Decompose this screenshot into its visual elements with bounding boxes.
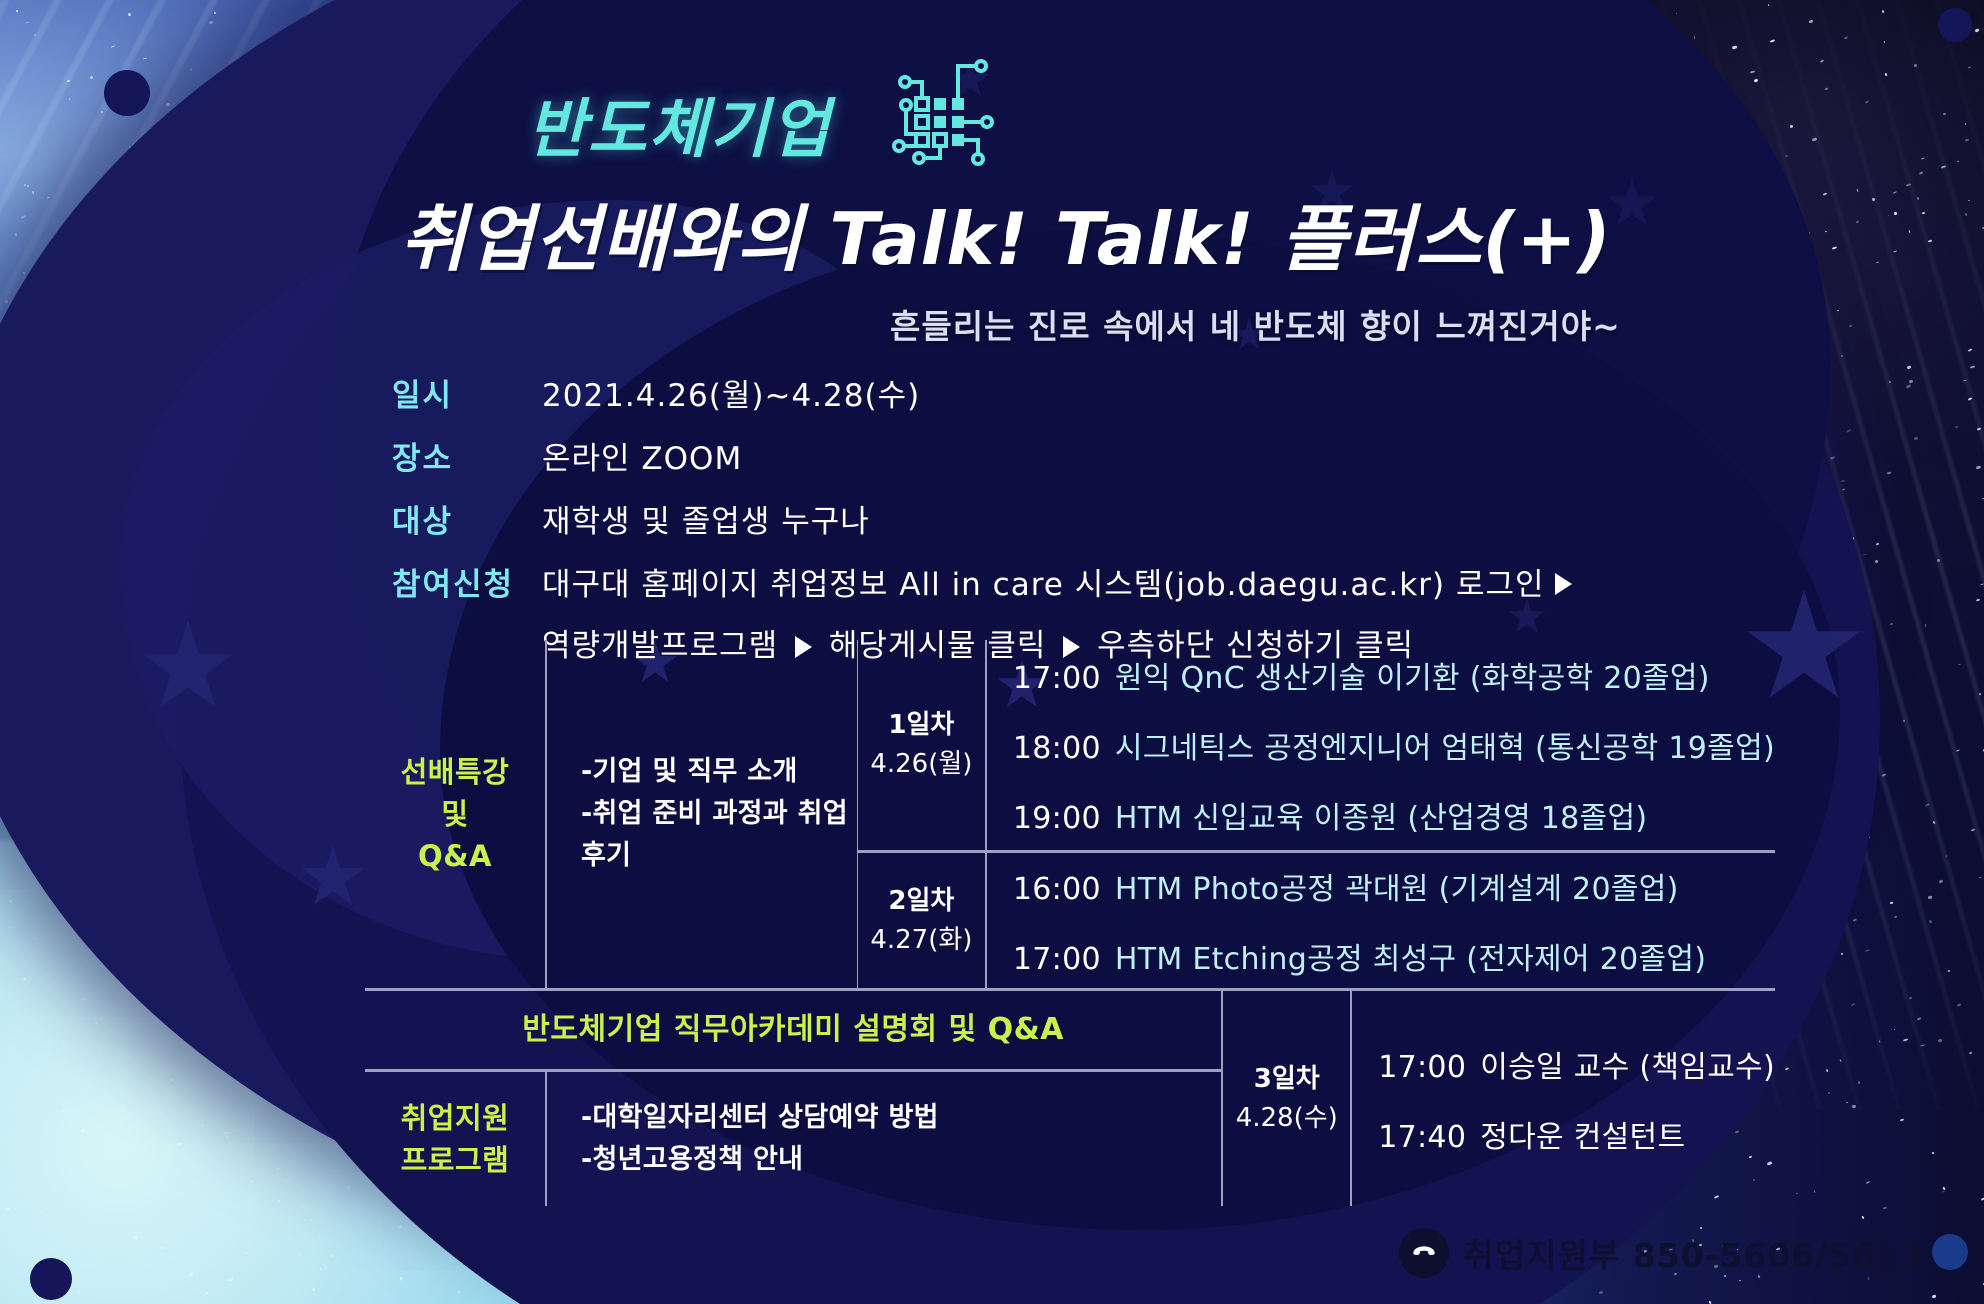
support-label-line-1: 취업지원 [401, 1101, 510, 1135]
page-title: 취업선배와의 Talk! Talk! 플러스(+) [400, 180, 1612, 285]
info-label-apply: 참여신청 [392, 559, 542, 604]
schedule-category-desc: -기업 및 직무 소개 -취업 준비 과정과 취업 후기 [547, 640, 857, 988]
session-item: 19:00HTM 신입교육 이종원 (산업경영 18졸업) [1013, 793, 1775, 837]
info-value-apply: 대구대 홈페이지 취업정보 All in care 시스템(job.daegu.… [542, 559, 1572, 604]
session-text: HTM Etching공정 최성구 (전자제어 20졸업) [1115, 942, 1706, 977]
info-label: 대상 [392, 496, 542, 541]
desc-line-1: -기업 및 직무 소개 [581, 756, 798, 787]
info-row-date: 일시 2021.4.26(월)~4.28(수) [392, 370, 1572, 415]
page-eyebrow-title: 반도체기업 [527, 78, 831, 170]
info-value: 재학생 및 졸업생 누구나 [542, 496, 870, 541]
schedule-day-row: 2일차 4.27(화) 16:00HTM Photo공정 곽대원 (기계설계 2… [858, 853, 1775, 988]
session-text: 원익 QnC 생산기술 이기환 (화학공학 20졸업) [1115, 661, 1710, 696]
category-line-1: 선배특강 [401, 755, 510, 789]
info-row-audience: 대상 재학생 및 졸업생 누구나 [392, 496, 1572, 541]
circuit-board-icon [884, 48, 1004, 168]
schedule-category-label: 선배특강 및 Q&A [365, 640, 545, 988]
schedule-support-label: 취업지원 프로그램 [365, 1072, 545, 1206]
schedule-upper-block: 선배특강 및 Q&A -기업 및 직무 소개 -취업 준비 과정과 취업 후기 [365, 640, 1775, 988]
support-desc-line-1: -대학일자리센터 상담예약 방법 [581, 1102, 939, 1133]
schedule-day-cell: 3일차 4.28(수) [1223, 991, 1350, 1206]
session-item: 16:00HTM Photo공정 곽대원 (기계설계 20졸업) [1013, 864, 1775, 908]
footer-contact: 취업지원부 850-5606/5613 [1399, 1228, 1924, 1278]
session-time: 17:00 [1378, 1050, 1466, 1085]
desc-line-2: -취업 준비 과정과 취업 후기 [581, 798, 848, 871]
info-value: 2021.4.26(월)~4.28(수) [542, 370, 920, 415]
session-text: 시그네틱스 공정엔지니어 엄태혁 (통신공학 19졸업) [1115, 731, 1775, 766]
session-text: 이승일 교수 (책임교수) [1480, 1050, 1775, 1085]
session-item: 17:40정다운 컨설턴트 [1378, 1112, 1775, 1156]
day-number: 1일차 [888, 710, 954, 740]
info-row-apply: 참여신청 대구대 홈페이지 취업정보 All in care 시스템(job.d… [392, 559, 1572, 604]
info-value: 온라인 ZOOM [542, 433, 742, 478]
info-label: 장소 [392, 433, 542, 478]
day-date: 4.26(월) [870, 749, 972, 779]
category-line-3: Q&A [418, 839, 492, 873]
schedule-day-cell: 2일차 4.27(화) [858, 853, 985, 988]
session-time: 17:00 [1013, 942, 1101, 977]
support-desc-line-2: -청년고용정책 안내 [581, 1144, 803, 1175]
session-item: 18:00시그네틱스 공정엔지니어 엄태혁 (통신공학 19졸업) [1013, 723, 1775, 767]
session-item: 17:00이승일 교수 (책임교수) [1378, 1042, 1775, 1086]
day-number: 3일차 [1254, 1064, 1320, 1094]
schedule-table: 선배특강 및 Q&A -기업 및 직무 소개 -취업 준비 과정과 취업 후기 [365, 640, 1775, 1206]
schedule-support-desc: -대학일자리센터 상담예약 방법 -청년고용정책 안내 [547, 1072, 1221, 1206]
schedule-session-list: 16:00HTM Photo공정 곽대원 (기계설계 20졸업) 17:00HT… [987, 853, 1775, 988]
day-date: 4.28(수) [1236, 1103, 1338, 1133]
footer-text: 취업지원부 850-5606/5613 [1463, 1229, 1924, 1277]
day-date: 4.27(화) [870, 925, 972, 955]
info-label: 일시 [392, 370, 542, 415]
session-text: 정다운 컨설턴트 [1480, 1120, 1685, 1155]
apply-step-1: 대구대 홈페이지 취업정보 All in care 시스템(job.daegu.… [542, 567, 1545, 603]
poster-root: 반도체기업 취업선배와의 Talk! Talk! 플 [0, 0, 1984, 1304]
poster-content: 반도체기업 취업선배와의 Talk! Talk! 플 [0, 0, 1984, 1304]
session-text: HTM Photo공정 곽대원 (기계설계 20졸업) [1115, 872, 1679, 907]
schedule-category-block: 선배특강 및 Q&A -기업 및 직무 소개 -취업 준비 과정과 취업 후기 [365, 640, 857, 988]
schedule-day-cell: 1일차 4.26(월) [858, 640, 985, 850]
schedule-day-row: 1일차 4.26(월) 17:00원익 QnC 생산기술 이기환 (화학공학 2… [858, 640, 1775, 850]
event-info-block: 일시 2021.4.26(월)~4.28(수) 장소 온라인 ZOOM 대상 재… [392, 370, 1572, 665]
session-item: 17:00원익 QnC 생산기술 이기환 (화학공학 20졸업) [1013, 653, 1775, 697]
session-time: 17:40 [1378, 1120, 1466, 1155]
session-time: 17:00 [1013, 661, 1101, 696]
schedule-session-list: 17:00이승일 교수 (책임교수) 17:40정다운 컨설턴트 [1352, 991, 1775, 1206]
support-label-line-2: 프로그램 [401, 1143, 510, 1177]
session-item: 17:00HTM Etching공정 최성구 (전자제어 20졸업) [1013, 934, 1775, 978]
session-text: HTM 신입교육 이종원 (산업경영 18졸업) [1115, 801, 1648, 836]
schedule-session-list: 17:00원익 QnC 생산기술 이기환 (화학공학 20졸업) 18:00시그… [987, 640, 1775, 850]
day-number: 2일차 [888, 886, 954, 916]
phone-icon [1399, 1228, 1449, 1278]
info-row-place: 장소 온라인 ZOOM [392, 433, 1572, 478]
session-time: 16:00 [1013, 872, 1101, 907]
schedule-day-row: 3일차 4.28(수) 17:00이승일 교수 (책임교수) 17:40정다운 … [1223, 991, 1775, 1206]
schedule-academy-label: 반도체기업 직무아카데미 설명회 및 Q&A [365, 1008, 1221, 1052]
triangle-right-icon [1555, 573, 1572, 595]
schedule-lower-block: 반도체기업 직무아카데미 설명회 및 Q&A 취업지원 프로그램 [365, 991, 1775, 1206]
session-time: 18:00 [1013, 731, 1101, 766]
category-line-2: 및 [441, 797, 468, 831]
session-time: 19:00 [1013, 801, 1101, 836]
page-subtitle: 흔들리는 진로 속에서 네 반도체 향이 느껴진거야~ [890, 300, 1621, 348]
